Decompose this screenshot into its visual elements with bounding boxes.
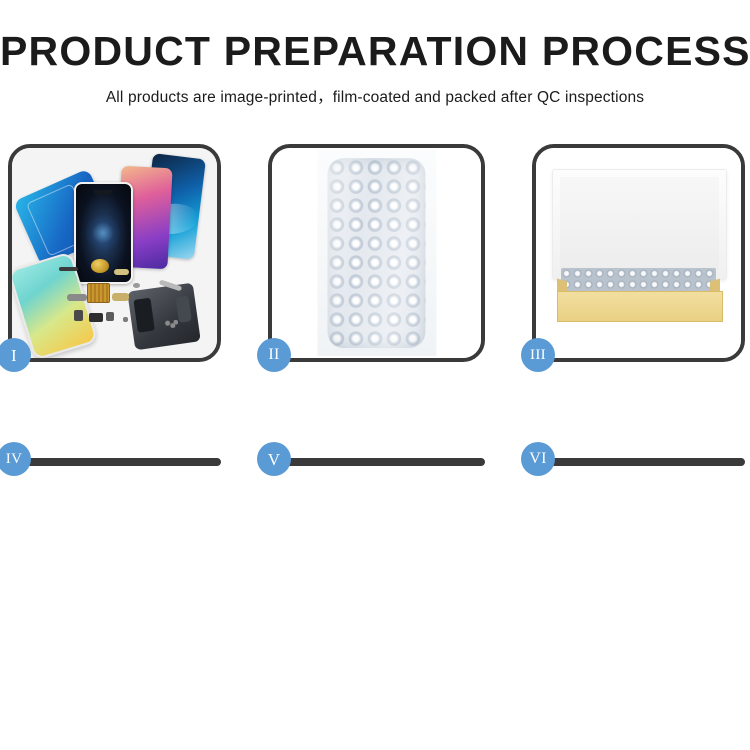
step-image-2: [272, 148, 481, 358]
process-steps-grid: I II III: [8, 144, 745, 674]
step-badge-1: I: [0, 338, 31, 372]
spare-parts-group: [67, 272, 174, 352]
step-card-4: Mobile Phone Spare Parts Mobile Phone Sp…: [8, 458, 221, 466]
tweezer-icon: [159, 280, 183, 292]
step-image-3: [536, 148, 741, 358]
step-badge-4: IV: [0, 442, 31, 476]
step-badge-3: III: [521, 338, 555, 372]
step-card-3: III: [532, 144, 745, 362]
bubble-wrap-illustration: [317, 150, 436, 356]
small-part-icon-2: [89, 313, 103, 322]
step-card-2: II: [268, 144, 485, 362]
screws-icon: [165, 320, 178, 328]
flex-cable-icon-3: [114, 269, 129, 275]
bar-part-icon: [59, 267, 78, 271]
page-header: PRODUCT PREPARATION PROCESS All products…: [0, 0, 750, 107]
small-part-icon-5: [133, 283, 139, 288]
phone-products-illustration: [12, 148, 217, 358]
step-badge-6: VI: [521, 442, 555, 476]
box-lid-icon: [552, 169, 726, 280]
bubble-pattern: [328, 158, 426, 347]
box-front-panel: [557, 291, 723, 322]
small-part-icon-4: [123, 317, 128, 323]
step-image-1: [12, 148, 217, 358]
page-title: PRODUCT PREPARATION PROCESS: [0, 30, 750, 73]
small-part-icon-3: [106, 312, 115, 322]
open-inner-box-illustration: [536, 148, 741, 358]
step-badge-2: II: [257, 338, 291, 372]
page-subtitle: All products are image-printed，film-coat…: [0, 85, 750, 107]
speaker-part-icon: [91, 259, 109, 273]
product-preparation-process-page: PRODUCT PREPARATION PROCESS All products…: [0, 0, 750, 750]
bubble-filled-contents: [561, 268, 717, 293]
flex-cable-icon-1: [67, 294, 86, 301]
step-card-1: I: [8, 144, 221, 362]
step-card-5: V: [268, 458, 485, 466]
step-badge-5: V: [257, 442, 291, 476]
chip-part-icon: [87, 283, 110, 303]
step-card-6: VI: [532, 458, 745, 466]
flex-cable-icon-2: [112, 293, 129, 302]
small-part-icon-1: [74, 310, 84, 320]
